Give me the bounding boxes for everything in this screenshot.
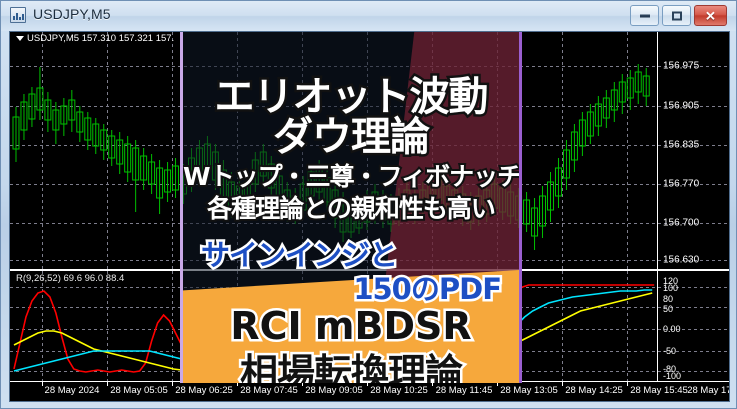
price-tick: 156.630 (663, 255, 699, 266)
time-axis: 28 May 2024 28 May 05:05 28 May 06:25 28… (10, 381, 729, 401)
time-tick: 28 May 11:45 (436, 385, 493, 396)
time-tick: 28 May 15:45 (630, 385, 688, 396)
indicator-axis: 120 100 80 50 0.00 -50 -80 -100 (657, 271, 729, 383)
time-tick: 28 May 2024 (45, 385, 100, 396)
icon-bars (13, 12, 23, 20)
application-window: USDJPY,M5 ✕ (0, 0, 737, 409)
time-tick: 28 May 06:25 (175, 385, 233, 396)
minimize-button[interactable] (630, 5, 659, 26)
indicator-tick: -100 (663, 371, 681, 381)
indicator-tick: 80 (663, 294, 673, 304)
maximize-icon (672, 11, 682, 20)
close-icon: ✕ (705, 9, 716, 22)
chart-symbol-header: USDJPY,M5 157.310 157.321 157. (16, 33, 174, 44)
time-tick: 28 May 14:25 (565, 385, 623, 396)
chevron-down-icon[interactable] (16, 36, 24, 41)
price-tick: 156.905 (663, 101, 699, 112)
price-tick: 156.835 (663, 140, 699, 151)
chart-app-icon (10, 7, 26, 23)
chart-client-area[interactable]: USDJPY,M5 157.310 157.321 157. 156.975 1… (9, 31, 730, 402)
indicator-tick: -50 (663, 346, 676, 356)
indicator-tick: 100 (663, 283, 678, 293)
time-tick: 28 May 05:05 (110, 385, 168, 396)
time-tick: 28 May 17:05 (687, 385, 730, 396)
promo-product-subtitle: 相場転換理論 (183, 342, 519, 383)
price-tick: 156.770 (663, 179, 699, 190)
maximize-button[interactable] (662, 5, 691, 26)
time-tick: 28 May 10:25 (370, 385, 428, 396)
indicator-label: R(9,26,52) 69.6 96.0 88.4 (16, 273, 124, 284)
promo-overlay: エリオット波動 ダウ理論 Wトップ・三尊・フィボナッチ 各種理論との親和性も高い… (180, 32, 522, 383)
time-tick: 28 May 09:05 (305, 385, 363, 396)
promo-feature-1: Wトップ・三尊・フィボナッチ (183, 157, 519, 193)
close-button[interactable]: ✕ (694, 5, 727, 26)
indicator-tick: 0.00 (663, 324, 681, 334)
price-tick: 156.975 (663, 61, 699, 72)
window-bottom-edge (1, 400, 736, 408)
price-axis: 156.975 156.905 156.835 156.770 156.700 … (657, 32, 729, 270)
chart-symbol-label: USDJPY,M5 157.310 157.321 157. (27, 33, 174, 44)
promo-feature-2: 各種理論との親和性も高い (183, 189, 519, 225)
promo-headline-2: ダウ理論 (183, 104, 519, 162)
time-tick: 28 May 13:05 (500, 385, 558, 396)
title-bar: USDJPY,M5 ✕ (1, 1, 736, 31)
promo-bonus-2: 150のPDF (183, 266, 519, 308)
price-tick: 156.700 (663, 218, 699, 229)
indicator-tick: 50 (663, 304, 673, 314)
minimize-icon (640, 14, 650, 17)
time-tick: 28 May 07:45 (240, 385, 298, 396)
window-title: USDJPY,M5 (33, 6, 111, 22)
